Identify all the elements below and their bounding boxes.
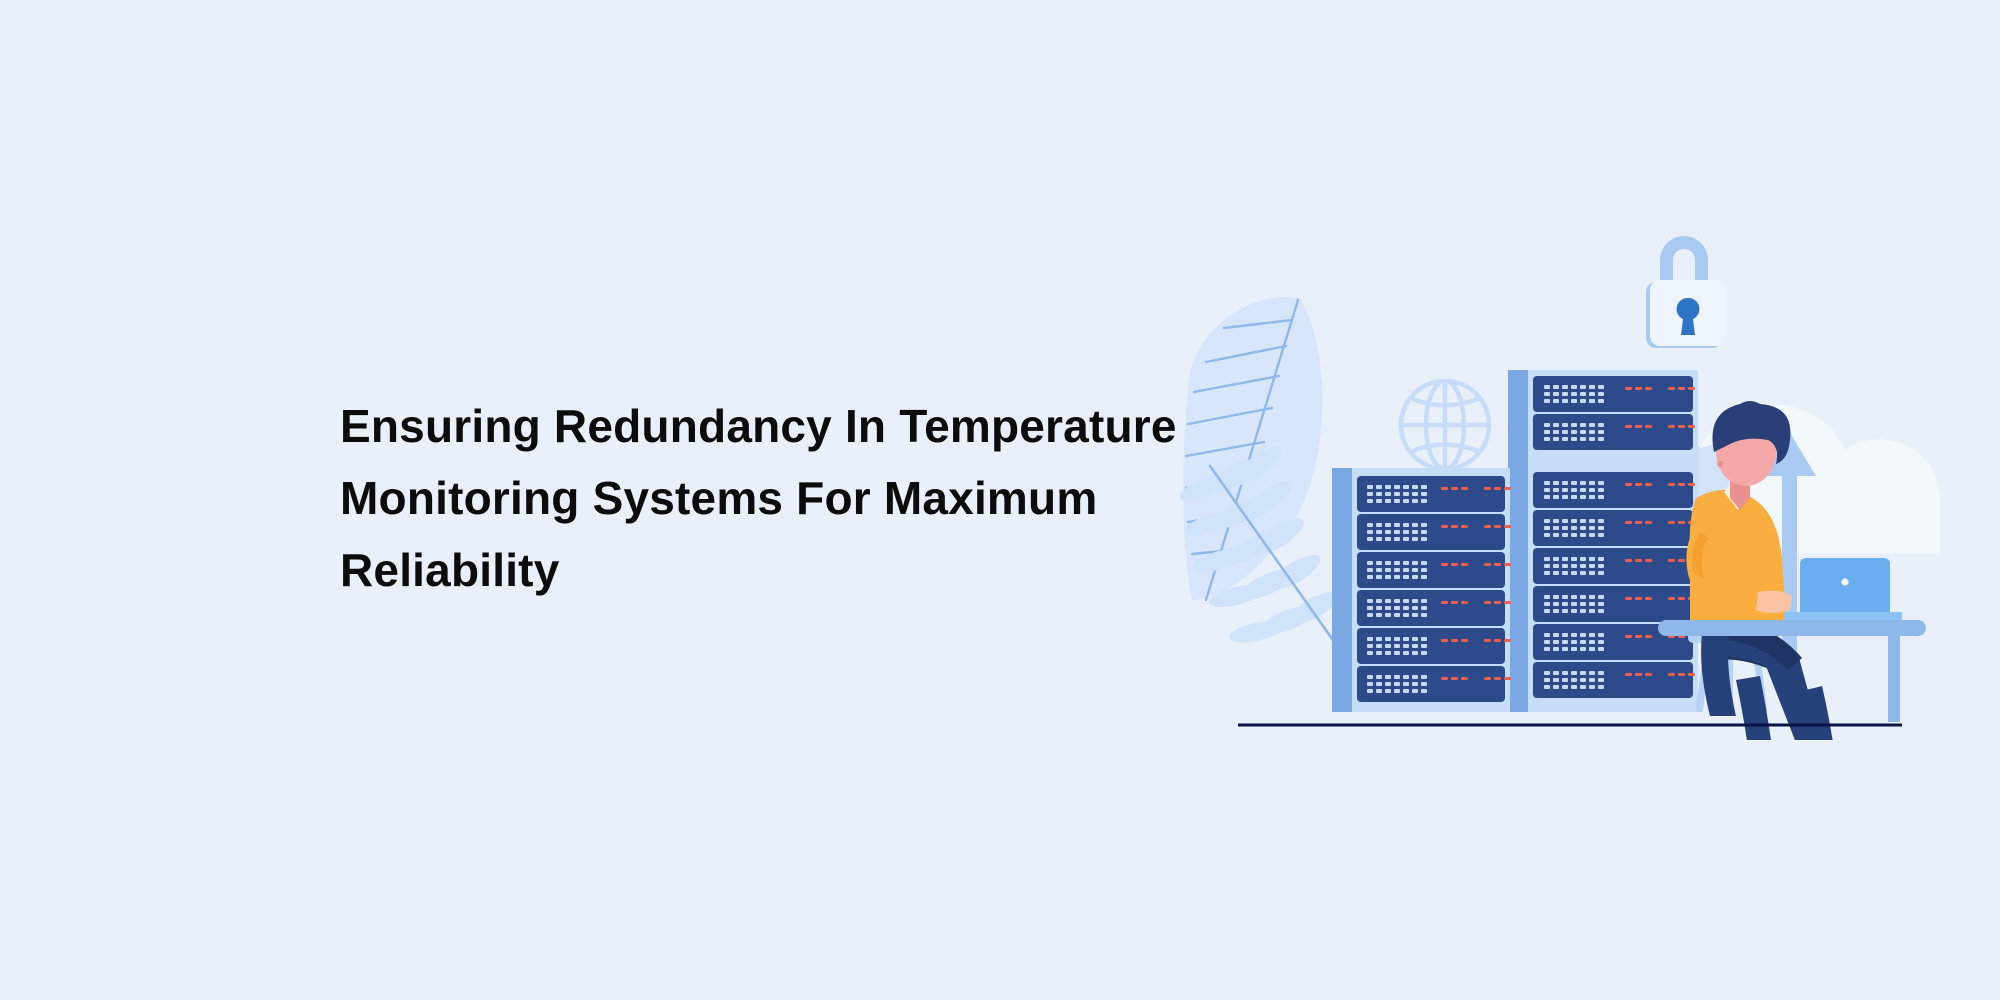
- laptop: [1784, 558, 1902, 622]
- server-rack-front: [1332, 468, 1511, 712]
- data-center-cloud-security-illustration: [1180, 180, 1940, 740]
- page-title: Ensuring Redundancy In Temperature Monit…: [340, 390, 1220, 606]
- server-rack-back-top: [1508, 370, 1698, 472]
- globe-icon: [1401, 381, 1489, 469]
- banner-root: Ensuring Redundancy In Temperature Monit…: [0, 0, 2000, 1000]
- server-rack-back: [1508, 466, 1698, 712]
- padlock-icon: [1646, 236, 1726, 348]
